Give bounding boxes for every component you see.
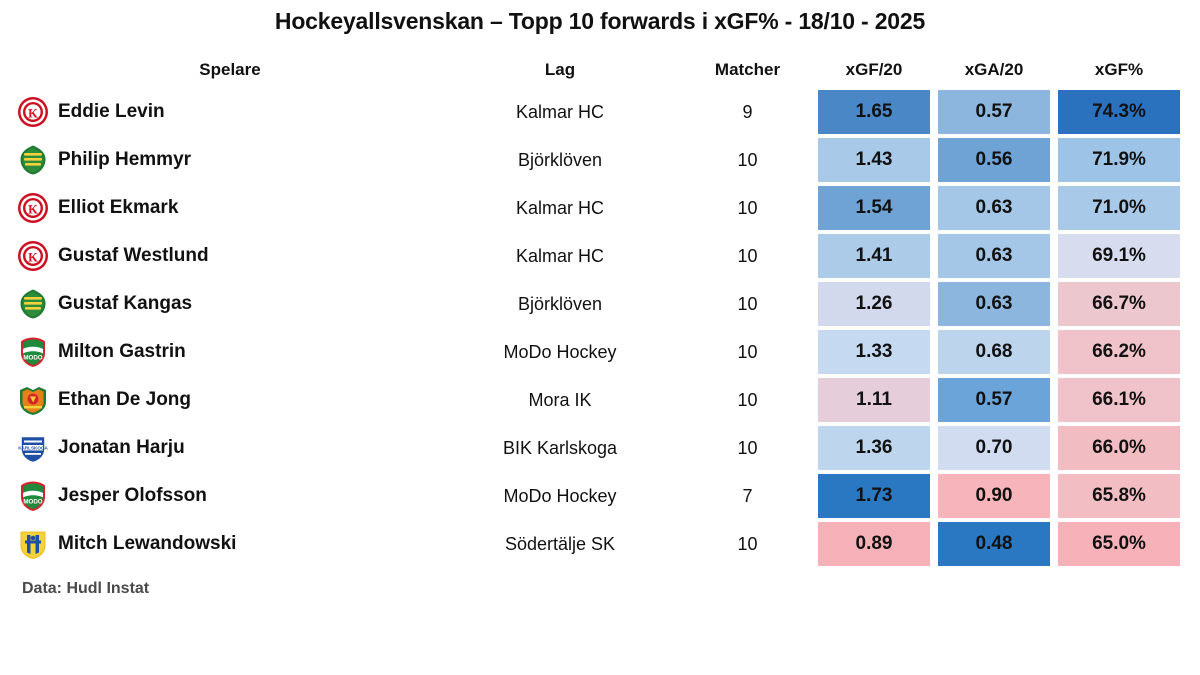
table-row: Mitch LewandowskiSödertälje SK100.890.48… (0, 520, 1200, 568)
svg-text:K: K (28, 203, 38, 217)
player-name: Elliot Ekmark (58, 184, 178, 232)
table-row: MODOJesper OlofssonMoDo Hockey71.730.906… (0, 472, 1200, 520)
column-header-xgf20: xGF/20 (818, 60, 930, 80)
svg-text:KARLSKOGA: KARLSKOGA (18, 445, 48, 450)
sodertalje-sk-logo (16, 527, 50, 561)
heatmap-cell-xgf20: 0.89 (818, 522, 930, 566)
team-name: Björklöven (440, 280, 680, 328)
team-name: Mora IK (440, 376, 680, 424)
heatmap-cell-xgfpct: 71.9% (1058, 138, 1180, 182)
data-source-caption: Data: Hudl Instat (22, 580, 149, 598)
team-name: Södertälje SK (440, 520, 680, 568)
player-name: Mitch Lewandowski (58, 520, 236, 568)
table-row: KARLSKOGAJonatan HarjuBIK Karlskoga101.3… (0, 424, 1200, 472)
table-body: KEddie LevinKalmar HC91.650.5774.3%Phili… (0, 88, 1200, 568)
player-name: Philip Hemmyr (58, 136, 191, 184)
team-name: MoDo Hockey (440, 328, 680, 376)
heatmap-cell-xga20: 0.63 (938, 282, 1050, 326)
page-title: Hockeyallsvenskan – Topp 10 forwards i x… (0, 8, 1200, 35)
player-name: Ethan De Jong (58, 376, 191, 424)
team-name: MoDo Hockey (440, 472, 680, 520)
team-name: Kalmar HC (440, 88, 680, 136)
svg-text:MODO: MODO (23, 499, 42, 506)
heatmap-cell-xgf20: 1.11 (818, 378, 930, 422)
games-played: 10 (680, 232, 815, 280)
heatmap-cell-xgf20: 1.65 (818, 90, 930, 134)
heatmap-cell-xga20: 0.68 (938, 330, 1050, 374)
table-row: KElliot EkmarkKalmar HC101.540.6371.0% (0, 184, 1200, 232)
heatmap-cell-xgfpct: 66.7% (1058, 282, 1180, 326)
player-name: Gustaf Westlund (58, 232, 209, 280)
table-row: KGustaf WestlundKalmar HC101.410.6369.1% (0, 232, 1200, 280)
table-row: MODOMilton GastrinMoDo Hockey101.330.686… (0, 328, 1200, 376)
player-name: Gustaf Kangas (58, 280, 192, 328)
heatmap-cell-xga20: 0.56 (938, 138, 1050, 182)
kalmar-hc-logo: K (16, 191, 50, 225)
games-played: 10 (680, 376, 815, 424)
heatmap-cell-xga20: 0.90 (938, 474, 1050, 518)
bik-karlskoga-logo: KARLSKOGA (16, 431, 50, 465)
bjorkloven-logo (16, 287, 50, 321)
table-row: Gustaf KangasBjörklöven101.260.6366.7% (0, 280, 1200, 328)
column-header-team: Lag (440, 60, 680, 80)
heatmap-cell-xga20: 0.48 (938, 522, 1050, 566)
table-row: KEddie LevinKalmar HC91.650.5774.3% (0, 88, 1200, 136)
player-name: Eddie Levin (58, 88, 165, 136)
team-name: Björklöven (440, 136, 680, 184)
games-played: 7 (680, 472, 815, 520)
heatmap-cell-xgf20: 1.36 (818, 426, 930, 470)
player-name: Jonatan Harju (58, 424, 185, 472)
heatmap-cell-xga20: 0.63 (938, 186, 1050, 230)
heatmap-cell-xgf20: 1.26 (818, 282, 930, 326)
games-played: 10 (680, 136, 815, 184)
kalmar-hc-logo: K (16, 95, 50, 129)
heatmap-cell-xgfpct: 66.1% (1058, 378, 1180, 422)
table-row: Philip HemmyrBjörklöven101.430.5671.9% (0, 136, 1200, 184)
games-played: 9 (680, 88, 815, 136)
heatmap-cell-xgf20: 1.41 (818, 234, 930, 278)
column-header-xga20: xGA/20 (938, 60, 1050, 80)
modo-hockey-logo: MODO (16, 479, 50, 513)
games-played: 10 (680, 280, 815, 328)
player-name: Milton Gastrin (58, 328, 186, 376)
kalmar-hc-logo: K (16, 239, 50, 273)
svg-text:K: K (28, 251, 38, 265)
heatmap-cell-xgfpct: 65.8% (1058, 474, 1180, 518)
games-played: 10 (680, 328, 815, 376)
heatmap-cell-xgfpct: 65.0% (1058, 522, 1180, 566)
heatmap-cell-xgfpct: 66.0% (1058, 426, 1180, 470)
games-played: 10 (680, 424, 815, 472)
table-header: Spelare Lag Matcher xGF/20 xGA/20 xGF% (0, 60, 1200, 86)
team-name: BIK Karlskoga (440, 424, 680, 472)
heatmap-cell-xgfpct: 74.3% (1058, 90, 1180, 134)
player-name: Jesper Olofsson (58, 472, 207, 520)
team-name: Kalmar HC (440, 232, 680, 280)
team-name: Kalmar HC (440, 184, 680, 232)
heatmap-cell-xgf20: 1.54 (818, 186, 930, 230)
heatmap-cell-xga20: 0.57 (938, 378, 1050, 422)
column-header-player: Spelare (60, 60, 400, 80)
heatmap-cell-xgf20: 1.43 (818, 138, 930, 182)
modo-hockey-logo: MODO (16, 335, 50, 369)
svg-text:K: K (28, 107, 38, 121)
games-played: 10 (680, 184, 815, 232)
mora-ik-logo (16, 383, 50, 417)
heatmap-cell-xga20: 0.57 (938, 90, 1050, 134)
heatmap-cell-xgf20: 1.73 (818, 474, 930, 518)
column-header-games: Matcher (680, 60, 815, 80)
heatmap-cell-xga20: 0.63 (938, 234, 1050, 278)
heatmap-cell-xgfpct: 69.1% (1058, 234, 1180, 278)
svg-text:MODO: MODO (23, 355, 42, 362)
table-row: Ethan De JongMora IK101.110.5766.1% (0, 376, 1200, 424)
heatmap-cell-xgfpct: 66.2% (1058, 330, 1180, 374)
heatmap-cell-xgfpct: 71.0% (1058, 186, 1180, 230)
bjorkloven-logo (16, 143, 50, 177)
heatmap-cell-xgf20: 1.33 (818, 330, 930, 374)
games-played: 10 (680, 520, 815, 568)
column-header-xgfpct: xGF% (1058, 60, 1180, 80)
heatmap-cell-xga20: 0.70 (938, 426, 1050, 470)
